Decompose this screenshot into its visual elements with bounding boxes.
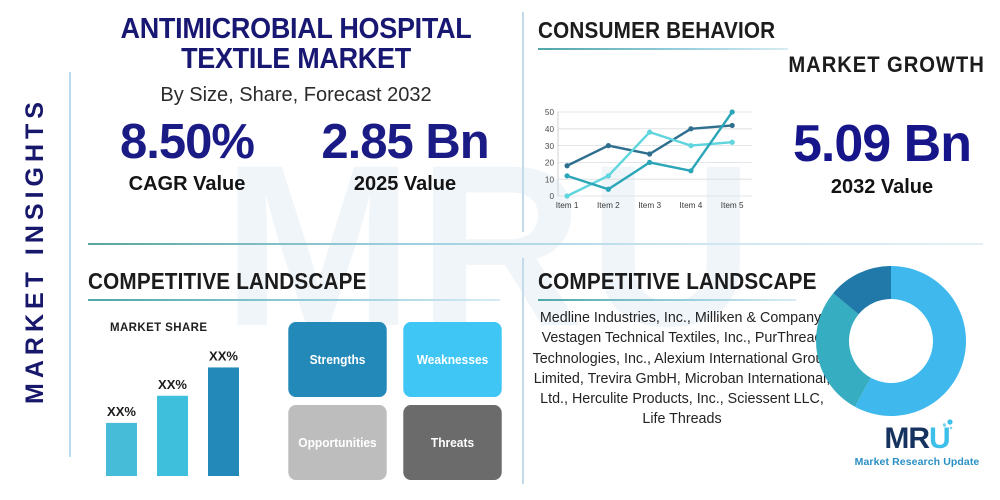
svg-text:0: 0 <box>549 192 554 201</box>
market-growth-value: 5.09 Bn <box>768 118 996 170</box>
donut-chart-svg <box>812 262 970 420</box>
consumer-behavior-header: CONSUMER BEHAVIOR <box>538 17 788 50</box>
svg-text:10: 10 <box>545 175 555 184</box>
svg-text:50: 50 <box>545 108 555 117</box>
swot-box-opportunities[interactable]: Opportunities <box>288 405 386 480</box>
svg-text:20: 20 <box>545 159 555 168</box>
svg-text:Item 3: Item 3 <box>638 201 661 210</box>
kpi-2025-value: 2.85 Bn <box>296 118 514 167</box>
infographic-page: MARKET INSIGHTS ANTIMICROBIAL HOSPITAL T… <box>0 0 1000 500</box>
left-vertical-rule <box>69 72 71 457</box>
bar-chart: XX%XX%XX% <box>88 318 268 480</box>
logo-mark: MRU <box>884 424 949 454</box>
competitive-landscape-left-underline <box>88 299 500 301</box>
swot-label-opportunities: Opportunities <box>298 435 376 450</box>
market-growth-label: 2032 Value <box>768 176 996 199</box>
title-block: ANTIMICROBIAL HOSPITAL TEXTILE MARKET By… <box>78 14 514 107</box>
svg-text:30: 30 <box>545 142 555 151</box>
bubbles-icon <box>939 419 955 435</box>
kpi-cagr: 8.50% CAGR Value <box>78 118 296 196</box>
swot-label-weaknesses: Weaknesses <box>417 352 489 367</box>
svg-text:Item 5: Item 5 <box>721 201 744 210</box>
svg-text:XX%: XX% <box>107 404 136 419</box>
kpi-2025-label: 2025 Value <box>296 173 514 196</box>
market-growth-header: MARKET GROWTH <box>780 52 990 78</box>
svg-text:XX%: XX% <box>209 348 238 363</box>
competitive-landscape-left-title: COMPETITIVE LANDSCAPE <box>88 268 459 295</box>
market-growth-kpi: 5.09 Bn 2032 Value <box>768 118 996 199</box>
logo-mark-dark: MR <box>884 422 929 455</box>
line-chart-svg: 01020304050Item 1Item 2Item 3Item 4Item … <box>534 104 758 216</box>
competitive-landscape-left-header: COMPETITIVE LANDSCAPE <box>88 268 500 301</box>
side-label-text: MARKET INSIGHTS <box>21 97 50 404</box>
vertical-divider-top <box>522 12 524 232</box>
kpi-2025: 2.85 Bn 2025 Value <box>296 118 514 196</box>
svg-text:Item 1: Item 1 <box>556 201 579 210</box>
consumer-behavior-underline <box>538 48 788 50</box>
vertical-divider-bottom <box>522 258 524 484</box>
kpi-cagr-value: 8.50% <box>78 118 296 167</box>
kpi-group: 8.50% CAGR Value 2.85 Bn 2025 Value <box>78 118 514 196</box>
competitive-landscape-right-underline <box>538 299 796 301</box>
horizontal-divider <box>88 243 983 245</box>
donut-chart <box>812 262 970 420</box>
page-subtitle: By Size, Share, Forecast 2032 <box>78 84 514 107</box>
bar-chart-svg: XX%XX%XX% <box>88 318 268 480</box>
page-title: ANTIMICROBIAL HOSPITAL TEXTILE MARKET <box>93 14 498 74</box>
line-chart: 01020304050Item 1Item 2Item 3Item 4Item … <box>534 104 758 216</box>
logo-tagline: Market Research Update <box>846 456 988 468</box>
logo: MRU Market Research Update <box>846 424 988 468</box>
competitive-landscape-right-header: COMPETITIVE LANDSCAPE <box>538 268 796 301</box>
swot-label-threats: Threats <box>431 435 474 450</box>
swot-box-threats[interactable]: Threats <box>403 405 501 480</box>
svg-text:40: 40 <box>545 125 555 134</box>
svg-text:XX%: XX% <box>158 377 187 392</box>
svg-text:Item 4: Item 4 <box>680 201 703 210</box>
swot-box-weaknesses[interactable]: Weaknesses <box>403 322 501 397</box>
consumer-behavior-title: CONSUMER BEHAVIOR <box>538 17 763 44</box>
swot-grid: Strengths Weaknesses Opportunities Threa… <box>284 322 506 480</box>
swot-label-strengths: Strengths <box>310 352 366 367</box>
svg-text:Item 2: Item 2 <box>597 201 620 210</box>
side-label: MARKET INSIGHTS <box>6 0 64 500</box>
swot-box-strengths[interactable]: Strengths <box>288 322 386 397</box>
kpi-cagr-label: CAGR Value <box>78 173 296 196</box>
competitive-landscape-right-title: COMPETITIVE LANDSCAPE <box>538 268 770 295</box>
company-list: Medline Industries, Inc., Milliken & Com… <box>532 308 832 430</box>
market-growth-title: MARKET GROWTH <box>788 52 981 78</box>
